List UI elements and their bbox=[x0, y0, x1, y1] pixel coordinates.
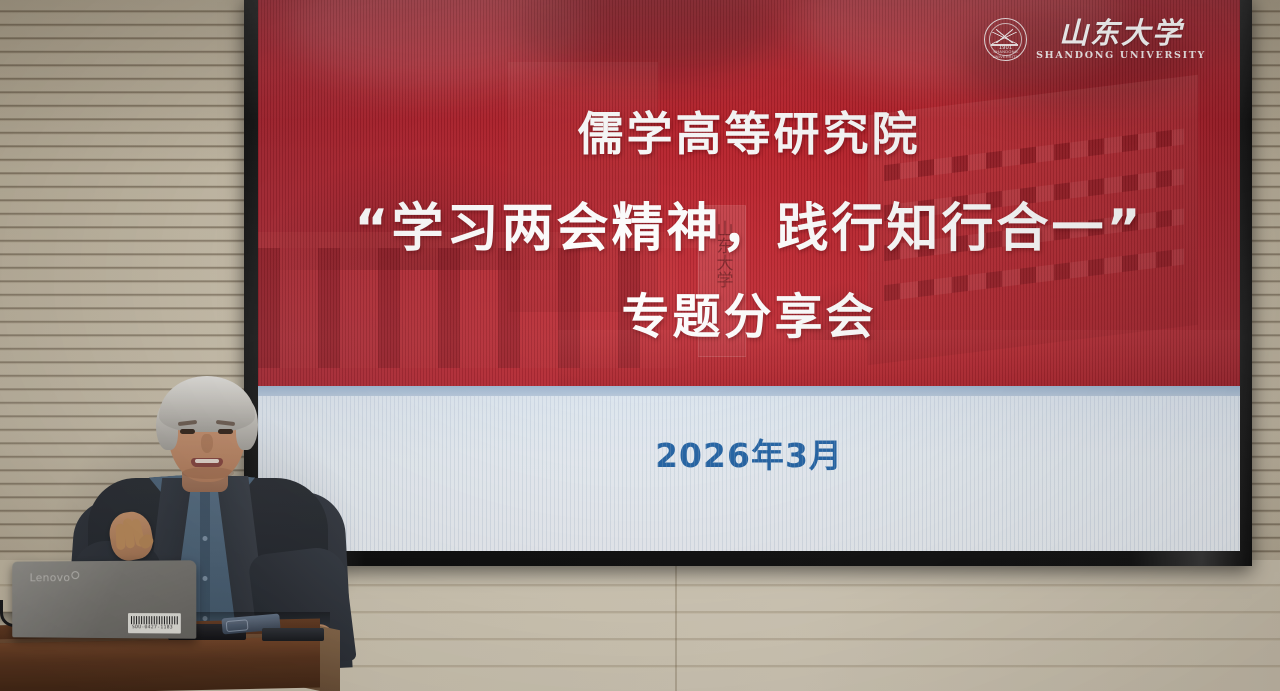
logo-chinese-name: 山东大学 bbox=[1059, 18, 1183, 48]
seal-arc-text: SHANDONG UNIVERSITY bbox=[985, 49, 1026, 59]
speaker-eye-right bbox=[218, 429, 233, 434]
lecture-room-scene: 山东大学 1901 SHANDONG UNIVERSITY bbox=[0, 0, 1280, 691]
logo-english-name: SHANDONG UNIVERSITY bbox=[1036, 50, 1206, 61]
slide-divider-band bbox=[258, 386, 1240, 396]
slide-red-area: 山东大学 1901 SHANDONG UNIVERSITY bbox=[258, 0, 1240, 389]
podium-front-panel bbox=[0, 637, 320, 691]
desk-remote-control bbox=[262, 628, 324, 641]
slide-date-text: 2026年3月 bbox=[258, 429, 1240, 477]
slide-title-line-1: 儒学高等研究院 bbox=[258, 98, 1240, 164]
screen-surface: 山东大学 1901 SHANDONG UNIVERSITY bbox=[258, 0, 1240, 551]
shandong-university-logo: 1901 SHANDONG UNIVERSITY 山东大学 SHANDONG U… bbox=[984, 18, 1206, 61]
slide-footer-area: 2026年3月 bbox=[258, 396, 1240, 551]
barcode-icon bbox=[131, 616, 178, 624]
shandong-university-seal-icon: 1901 SHANDONG UNIVERSITY bbox=[984, 18, 1027, 61]
speaker-chin-shadow bbox=[182, 467, 234, 479]
slide-title-line-3: 专题分享会 bbox=[258, 277, 1240, 347]
speaker-hair bbox=[159, 376, 255, 432]
speaker-eye-left bbox=[180, 429, 195, 434]
speaker-nose bbox=[201, 434, 213, 453]
laptop-sticker-code: SDU-0427-1183 bbox=[132, 625, 173, 630]
lenovo-brand-label: Lenovo bbox=[30, 571, 80, 584]
slide-title-line-2: “学习两会精神，践行知行合一” bbox=[258, 186, 1240, 261]
speaker-mouth bbox=[191, 458, 223, 467]
led-display-screen[interactable]: 山东大学 1901 SHANDONG UNIVERSITY bbox=[244, 0, 1252, 566]
laptop-asset-sticker: SDU-0427-1183 bbox=[128, 613, 181, 633]
lenovo-laptop[interactable]: Lenovo SDU-0427-1183 bbox=[12, 560, 196, 639]
